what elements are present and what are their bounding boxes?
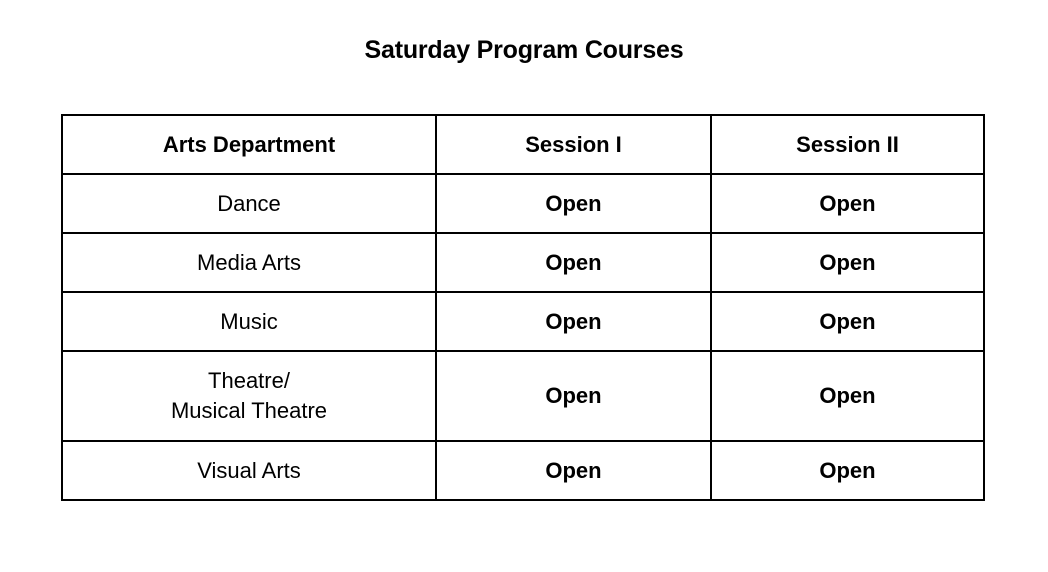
page-title: Saturday Program Courses bbox=[0, 33, 1048, 67]
status-badge-session-1: Open bbox=[436, 174, 711, 233]
table-row: Theatre/ Musical Theatre Open Open bbox=[62, 351, 984, 441]
column-header-session-2: Session II bbox=[711, 115, 984, 174]
table-body: Dance Open Open Media Arts Open Open Mus… bbox=[62, 174, 984, 500]
table-header: Arts Department Session I Session II bbox=[62, 115, 984, 174]
column-header-arts-department: Arts Department bbox=[62, 115, 436, 174]
table-header-row: Arts Department Session I Session II bbox=[62, 115, 984, 174]
table-row: Music Open Open bbox=[62, 292, 984, 351]
cell-department: Theatre/ Musical Theatre bbox=[62, 351, 436, 441]
status-badge-session-1: Open bbox=[436, 351, 711, 441]
cell-department: Music bbox=[62, 292, 436, 351]
cell-department: Visual Arts bbox=[62, 441, 436, 500]
cell-department: Dance bbox=[62, 174, 436, 233]
status-badge-session-2: Open bbox=[711, 292, 984, 351]
cell-department: Media Arts bbox=[62, 233, 436, 292]
table-row: Media Arts Open Open bbox=[62, 233, 984, 292]
status-badge-session-1: Open bbox=[436, 441, 711, 500]
status-badge-session-2: Open bbox=[711, 441, 984, 500]
table-row: Dance Open Open bbox=[62, 174, 984, 233]
course-table-container: Arts Department Session I Session II Dan… bbox=[61, 114, 983, 501]
status-badge-session-2: Open bbox=[711, 174, 984, 233]
saturday-program-courses-table: Arts Department Session I Session II Dan… bbox=[61, 114, 985, 501]
status-badge-session-2: Open bbox=[711, 351, 984, 441]
table-row: Visual Arts Open Open bbox=[62, 441, 984, 500]
column-header-session-1: Session I bbox=[436, 115, 711, 174]
document-page: Saturday Program Courses Arts Department… bbox=[0, 0, 1048, 572]
status-badge-session-2: Open bbox=[711, 233, 984, 292]
status-badge-session-1: Open bbox=[436, 233, 711, 292]
status-badge-session-1: Open bbox=[436, 292, 711, 351]
